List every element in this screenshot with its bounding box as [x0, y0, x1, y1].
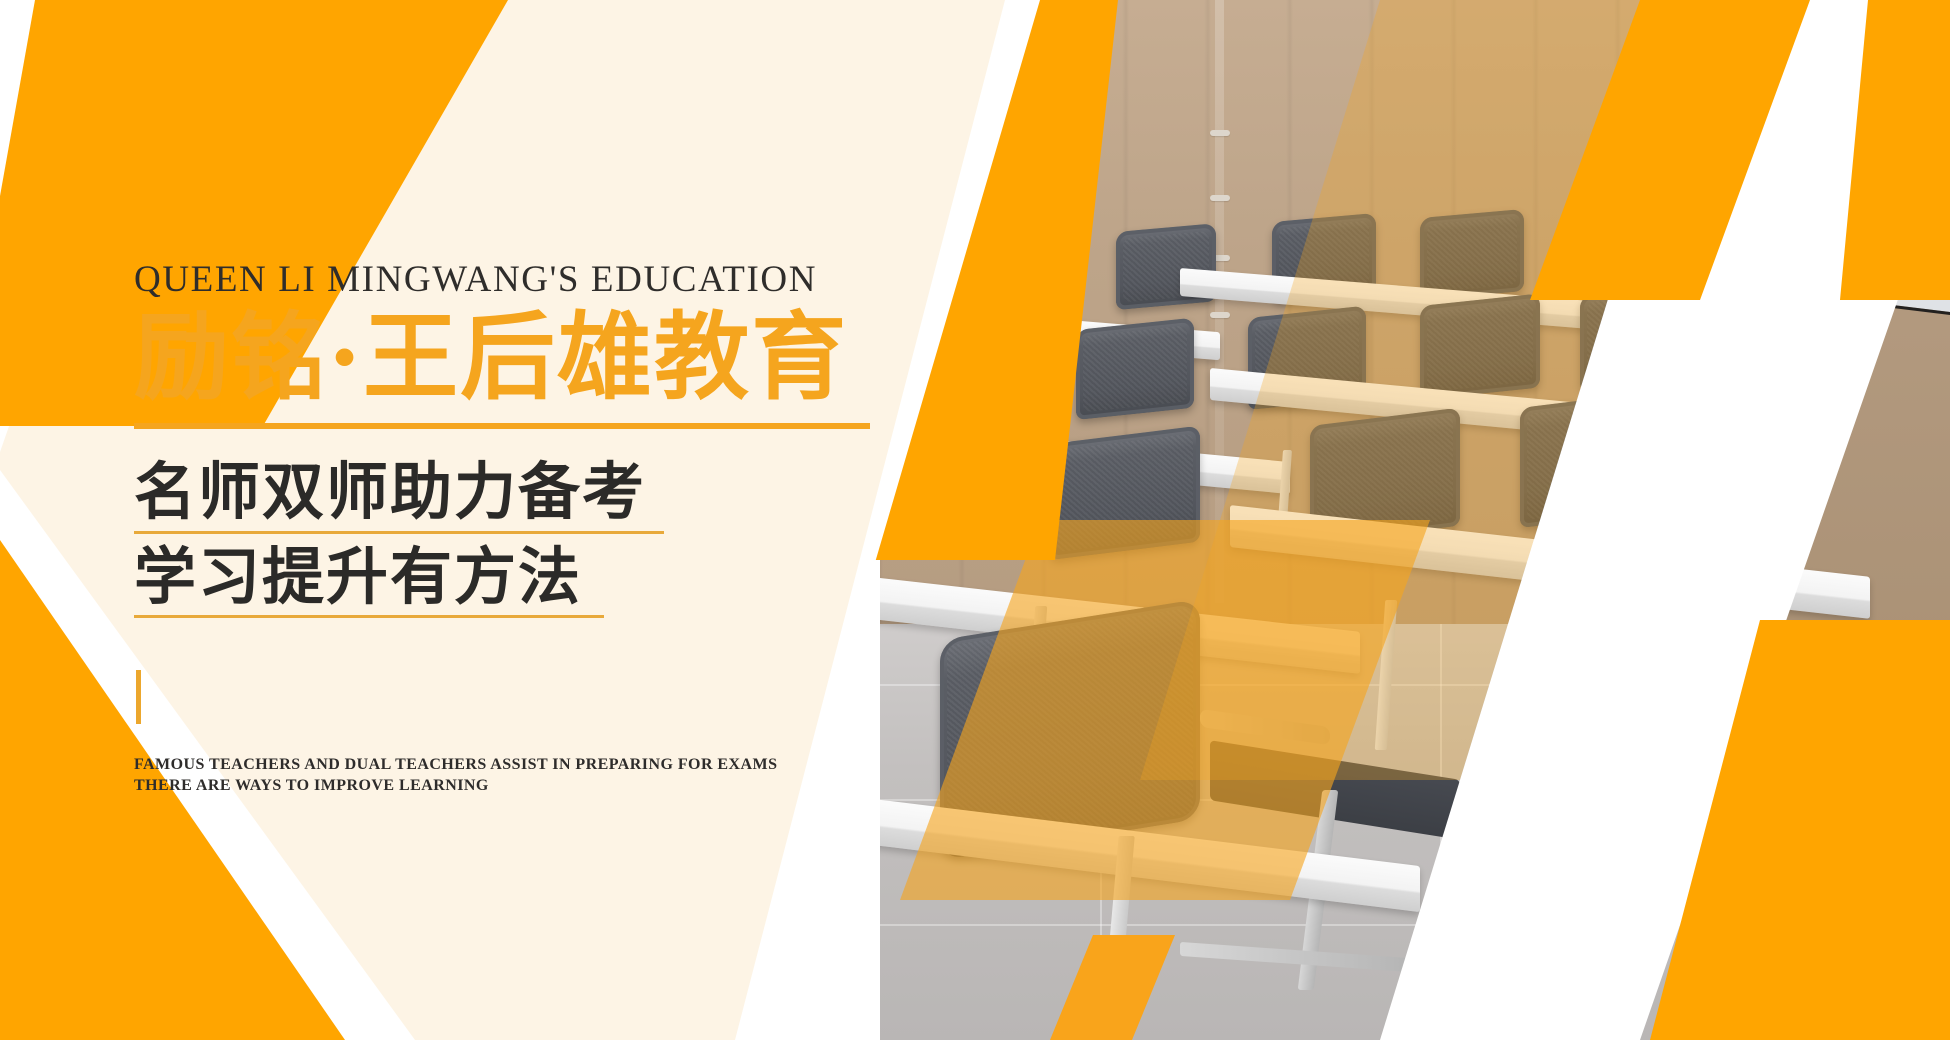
main-title: 励铭·王后雄教育 — [134, 305, 914, 411]
chair — [972, 226, 1072, 313]
chair — [1420, 293, 1540, 400]
eyebrow-text: QUEEN LI MINGWANG'S EDUCATION — [134, 258, 914, 301]
wall-slot-column — [1215, 0, 1224, 603]
education-banner: QUEEN LI MINGWANG'S EDUCATION 励铭·王后雄教育 名… — [0, 0, 1950, 1040]
chair — [1076, 318, 1194, 420]
wall-slot — [1210, 312, 1230, 318]
chair — [918, 310, 1030, 408]
subtitle-line-2: 学习提升有方法 — [134, 540, 914, 613]
text-block: QUEEN LI MINGWANG'S EDUCATION 励铭·王后雄教育 名… — [134, 258, 914, 796]
footnote-line-1: FAMOUS TEACHERS AND DUAL TEACHERS ASSIST… — [134, 754, 914, 775]
projector-screen — [1766, 0, 1950, 315]
title-underline — [134, 423, 870, 429]
classroom-photo — [880, 0, 1950, 1040]
chair — [1580, 283, 1700, 392]
accent-tick-bar — [136, 670, 141, 724]
subtitle-underline-2 — [134, 615, 604, 618]
wall-slot — [1210, 195, 1230, 201]
footnote-line-2: THERE ARE WAYS TO IMPROVE LEARNING — [134, 775, 914, 796]
chair — [1420, 209, 1524, 300]
wall-slot — [1210, 130, 1230, 136]
chair — [1050, 426, 1200, 560]
subtitle-line-1: 名师双师助力备考 — [134, 455, 914, 528]
projector-screen-image — [1792, 69, 1942, 237]
chair — [1520, 389, 1672, 528]
subtitle-underline-1 — [134, 531, 664, 534]
